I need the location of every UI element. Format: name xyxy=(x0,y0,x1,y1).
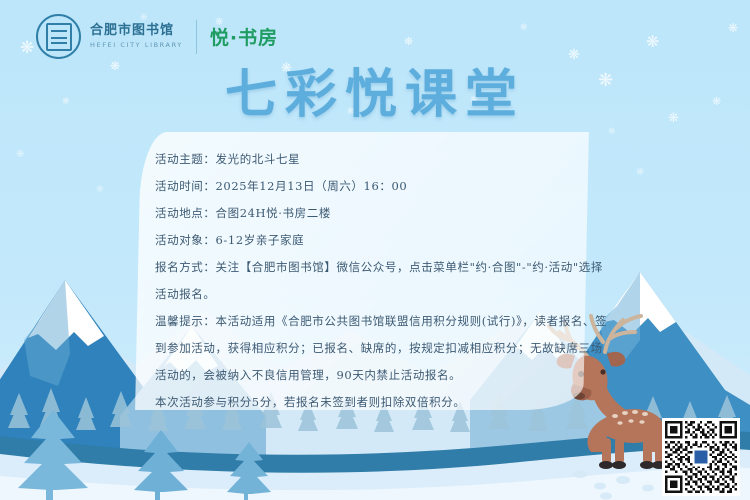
detail-theme: 活动主题：发光的北斗七星 xyxy=(155,146,610,173)
page-title: 七彩悦课堂 xyxy=(0,52,750,127)
snowflake-icon: ❋ xyxy=(16,150,24,160)
detail-time: 活动时间：2025年12月13日（周六）16：00 xyxy=(155,173,610,200)
snowflake-icon: ❋ xyxy=(520,24,528,33)
detail-notice: 温馨提示：本活动适用《合肥市公共图书馆联盟信用积分规则(试行)》，读者报名、签到… xyxy=(155,308,610,389)
detail-location: 活动地点：合图24H悦·书房二楼 xyxy=(155,200,610,227)
library-name-en: HEFEI CITY LIBRARY xyxy=(90,41,183,49)
detail-registration: 报名方式：关注【合肥市图书馆】微信公众号，点击菜单栏"约·合图"-"约·活动"选… xyxy=(155,254,610,308)
qr-center-logo xyxy=(693,448,710,467)
snowflake-icon: ❋ xyxy=(636,168,644,178)
snowflake-icon: ❋ xyxy=(646,34,659,50)
snowflake-icon: ❋ xyxy=(728,22,738,34)
snowflake-icon: ❋ xyxy=(404,36,413,47)
snowflake-icon: ❋ xyxy=(96,186,104,195)
sub-brand-label: 悦·书房 xyxy=(210,23,278,50)
logo-divider xyxy=(196,20,197,54)
detail-audience: 活动对象：6-12岁亲子家庭 xyxy=(155,227,610,254)
poster-canvas: ❋ ❋ ❋ ❋ ❋ ❋ ❋ ❋ ❋ ❋ ❋ ❋ ❋ ❋ ❋ ❋ ❋ ❋ ❋ ❋ xyxy=(0,0,750,500)
library-name-cn: 合肥市图书馆 xyxy=(90,24,183,39)
qr-code[interactable] xyxy=(662,418,740,496)
detail-points: 本次活动参与积分5分，若报名未签到者则扣除双倍积分。 xyxy=(155,389,610,416)
snowflake-icon: ❋ xyxy=(608,128,616,137)
info-panel-text: 活动主题：发光的北斗七星 活动时间：2025年12月13日（周六）16：00 活… xyxy=(155,146,610,416)
